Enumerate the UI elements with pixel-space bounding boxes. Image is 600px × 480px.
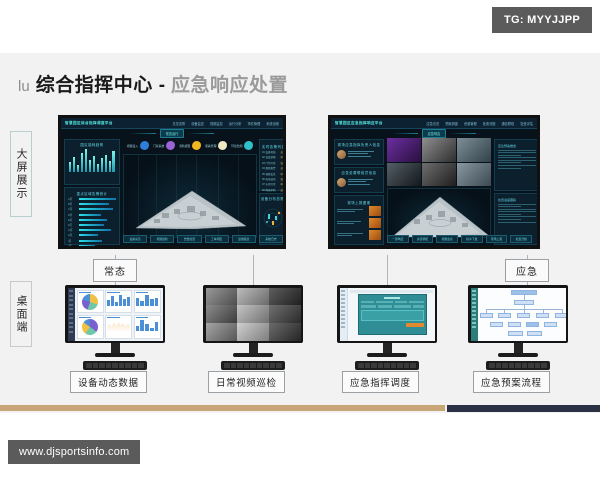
photo-item[interactable] bbox=[337, 206, 381, 216]
bi-content bbox=[75, 288, 163, 341]
submit-button[interactable] bbox=[406, 323, 424, 327]
video-feed[interactable] bbox=[387, 138, 421, 162]
status-badge: 应急响应 bbox=[422, 129, 447, 138]
toolbar-button[interactable]: 指令下发 bbox=[461, 235, 483, 243]
table-row: 03 门禁异常低 bbox=[262, 161, 283, 165]
quick-entry[interactable]: 消防报警 bbox=[179, 141, 201, 150]
panel-plan-push: 应急预案推送 bbox=[494, 139, 540, 191]
bi-row bbox=[77, 290, 161, 314]
cctv-feed bbox=[206, 288, 237, 305]
environment-icon bbox=[244, 141, 253, 150]
nav-item[interactable]: 复盘评估 bbox=[520, 121, 533, 126]
cctv-feed bbox=[237, 305, 268, 322]
panel-site-photos: 现场上报图像 bbox=[334, 195, 384, 245]
map-3d-view[interactable] bbox=[387, 188, 491, 238]
keyboard bbox=[355, 361, 419, 370]
video-icon bbox=[140, 141, 149, 150]
toolbar-button[interactable]: 现场上报 bbox=[486, 235, 508, 243]
quick-entry-label: 消防报警 bbox=[179, 144, 190, 148]
avatar bbox=[337, 150, 346, 159]
monitor-neck bbox=[514, 343, 523, 353]
video-feed[interactable] bbox=[422, 138, 456, 162]
hbar-item: B区 bbox=[68, 202, 116, 206]
toolbar-button[interactable]: 设备总览 bbox=[123, 235, 147, 243]
flow-node[interactable] bbox=[508, 331, 523, 336]
nav-item[interactable]: 通信联络 bbox=[502, 121, 515, 126]
monitor-base bbox=[498, 353, 538, 357]
quick-entry-label: 能耗管理 bbox=[205, 144, 216, 148]
cctv-grid[interactable] bbox=[206, 288, 301, 341]
flow-node[interactable] bbox=[527, 331, 542, 336]
keyboard bbox=[83, 361, 147, 370]
monitor-neck bbox=[249, 343, 258, 353]
slide-canvas: lu 综合指挥中心 - 应急响应处置 大屏展示 桌面端 智慧园区综合指挥调度平台… bbox=[0, 53, 600, 413]
monitor-emergency-dispatch[interactable] bbox=[337, 285, 437, 370]
monitor-video-patrol[interactable] bbox=[203, 285, 303, 370]
table-row: 01 设备离线高 bbox=[262, 150, 283, 154]
toolbar-button[interactable]: 资源调配 bbox=[412, 235, 434, 243]
person-card bbox=[335, 176, 383, 189]
side-tag-desktop: 桌面端 bbox=[10, 281, 32, 347]
line-chart bbox=[107, 319, 130, 332]
panel-title: 实时告警列表 bbox=[262, 142, 283, 150]
form-textarea[interactable] bbox=[361, 310, 424, 321]
status-badge: 常态运行 bbox=[160, 129, 185, 138]
hbar-item: C区 bbox=[68, 207, 116, 211]
panel-area-alarms: 重点区域告警统计 A区 B区 C区 D区 E区 F区 G区 H区 I区 J区 bbox=[64, 187, 120, 245]
dialog-title bbox=[384, 297, 399, 299]
flow-node[interactable] bbox=[480, 313, 493, 318]
quick-entry-label: 环境监测 bbox=[231, 144, 242, 148]
photo-item[interactable] bbox=[337, 218, 381, 228]
nav-item[interactable]: 预案调度 bbox=[445, 121, 458, 126]
photo-thumbnail bbox=[369, 230, 381, 240]
bigscreen-emergency[interactable]: 智慧园区应急指挥响应平台 应急总览 预案调度 资源管理 处置流程 通信联络 复盘… bbox=[328, 115, 540, 249]
pie-chart bbox=[82, 294, 98, 310]
monitor-frame bbox=[203, 285, 303, 343]
nav-item[interactable]: 应急总览 bbox=[427, 121, 440, 126]
decor-line-left bbox=[130, 133, 156, 134]
quick-entry[interactable]: 能耗管理 bbox=[205, 141, 227, 150]
cctv-feed bbox=[269, 288, 300, 305]
toolbar-button[interactable]: 视频巡检 bbox=[150, 235, 174, 243]
video-feed[interactable] bbox=[457, 163, 491, 187]
quick-entry[interactable]: 环境监测 bbox=[231, 141, 253, 150]
panel-alarm-list: 实时告警列表 01 设备离线高 02 温度超限中 03 门禁异常低 04 烟感报… bbox=[259, 139, 286, 191]
cctv-feed bbox=[269, 305, 300, 322]
monitor-neck bbox=[383, 343, 392, 353]
screen-bezel bbox=[331, 246, 537, 249]
monitor-base bbox=[367, 353, 407, 357]
panel-title: 设备分布态势 bbox=[260, 194, 285, 202]
panel-title: 现场上报图像 bbox=[337, 198, 381, 206]
form-field[interactable] bbox=[361, 301, 424, 304]
flow-node[interactable] bbox=[536, 313, 549, 318]
person-info bbox=[348, 179, 381, 187]
bi-card bbox=[134, 290, 161, 314]
panel-title: 园区能耗趋势 bbox=[65, 140, 119, 148]
energy-icon bbox=[218, 141, 227, 150]
photo-caption bbox=[337, 209, 367, 213]
app-toolbar[interactable] bbox=[350, 290, 433, 293]
decor-line-right bbox=[188, 133, 214, 134]
hbar-item: I区 bbox=[68, 239, 116, 243]
monitor-base bbox=[233, 353, 273, 357]
cctv-feed bbox=[237, 288, 268, 305]
monitor-emergency-plan-flow[interactable] bbox=[468, 285, 568, 370]
caption-emergency-dispatch: 应急指挥调度 bbox=[342, 371, 419, 393]
watermark-site-badge: www.djsportsinfo.com bbox=[8, 440, 140, 464]
monitor-screen[interactable] bbox=[340, 288, 435, 341]
flow-node[interactable] bbox=[490, 322, 503, 327]
dashboard-title: 智慧园区综合指挥调度平台 bbox=[65, 121, 113, 126]
hbar-item: F区 bbox=[68, 223, 116, 227]
nav-item[interactable]: 处置流程 bbox=[483, 121, 496, 126]
monitor-frame bbox=[65, 285, 165, 343]
bi-card bbox=[77, 315, 104, 339]
panel-title: 应急处置联络员信息 bbox=[335, 168, 383, 176]
panel-title: 重点区域告警统计 bbox=[68, 189, 116, 197]
dashboard-header: 智慧园区综合指挥调度平台 总览态势 设备监控 视频监控 运行分析 事件管理 系统… bbox=[61, 118, 283, 129]
monitor-screen[interactable] bbox=[206, 288, 301, 341]
connector-line bbox=[387, 255, 388, 287]
table-row: 07 水压异常中 bbox=[262, 182, 283, 186]
decor-line-left bbox=[392, 133, 418, 134]
campus-3d-model bbox=[132, 185, 250, 229]
bi-card bbox=[105, 290, 132, 314]
flow-node[interactable] bbox=[498, 313, 511, 318]
quick-entry-label: 视频接入 bbox=[127, 144, 138, 148]
fire-alarm-icon bbox=[192, 141, 201, 150]
dashboard-bottom-toolbar[interactable]: 一键响应 资源调配 视频会商 指令下发 现场上报 处置归档 bbox=[387, 235, 532, 243]
app-body bbox=[348, 288, 435, 341]
toolbar-button[interactable]: 工单调度 bbox=[205, 235, 229, 243]
keyboard bbox=[221, 361, 285, 370]
state-label-normal: 常态 bbox=[93, 259, 137, 282]
dashboard-normal: 智慧园区综合指挥调度平台 总览态势 设备监控 视频监控 运行分析 事件管理 系统… bbox=[61, 118, 283, 246]
caption-video-patrol: 日常视频巡检 bbox=[208, 371, 285, 393]
state-label-emergency: 应急 bbox=[505, 259, 549, 282]
nav-item[interactable]: 运行分析 bbox=[229, 121, 242, 126]
table-row: 04 烟感报警高 bbox=[262, 166, 283, 170]
dispatch-dialog[interactable] bbox=[358, 294, 427, 335]
person-info bbox=[348, 151, 381, 159]
toolbar-button[interactable]: 处置归档 bbox=[510, 235, 532, 243]
bi-card bbox=[77, 290, 104, 314]
side-tag-bigscreen: 大屏展示 bbox=[10, 131, 32, 217]
hbar-item: D区 bbox=[68, 213, 116, 217]
connector-line bbox=[253, 255, 254, 287]
dashboard-bottom-toolbar[interactable]: 设备总览 视频巡检 告警处置 工单调度 运维报表 系统日志 bbox=[123, 235, 283, 243]
monitor-base bbox=[95, 353, 135, 357]
app-sidebar[interactable] bbox=[340, 288, 348, 341]
flow-node[interactable] bbox=[526, 322, 539, 327]
bigscreen-normal[interactable]: 智慧园区综合指挥调度平台 总览态势 设备监控 视频监控 运行分析 事件管理 系统… bbox=[58, 115, 286, 249]
bar-chart bbox=[136, 294, 159, 306]
dashboard-status-bar: 常态运行 bbox=[61, 129, 283, 137]
person-card bbox=[335, 148, 383, 161]
hbar-item: A区 bbox=[68, 197, 116, 201]
flowchart-app bbox=[471, 288, 566, 341]
nav-item[interactable]: 总览态势 bbox=[173, 121, 186, 126]
toolbar-button[interactable]: 告警处置 bbox=[177, 235, 201, 243]
toolbar-button[interactable]: 视频会商 bbox=[436, 235, 458, 243]
bar-chart bbox=[107, 294, 130, 306]
dashboard-title: 智慧园区应急指挥响应平台 bbox=[335, 121, 383, 126]
hbar-item: G区 bbox=[68, 228, 116, 232]
toolbar-button[interactable]: 一键响应 bbox=[387, 235, 409, 243]
flow-node[interactable] bbox=[555, 313, 566, 318]
toolbar-button[interactable]: 系统日志 bbox=[259, 235, 283, 243]
table-row: 06 电压波动低 bbox=[262, 177, 283, 181]
video-feed[interactable] bbox=[457, 138, 491, 162]
quick-entry-icons[interactable]: 视频接入 门禁系统 消防报警 能耗管理 环境监测 bbox=[125, 138, 255, 153]
nav-item[interactable]: 视频监控 bbox=[210, 121, 223, 126]
nav-item[interactable]: 资源管理 bbox=[464, 121, 477, 126]
hbar-item: E区 bbox=[68, 218, 116, 222]
dashboard-header: 智慧园区应急指挥响应平台 应急总览 预案调度 资源管理 处置流程 通信联络 复盘… bbox=[331, 118, 537, 129]
nav-item[interactable]: 事件管理 bbox=[248, 121, 261, 126]
bi-card bbox=[105, 315, 132, 339]
photo-caption bbox=[337, 233, 367, 237]
bi-card bbox=[134, 315, 161, 339]
panel-energy-trend: 园区能耗趋势 bbox=[64, 139, 120, 185]
title-main: 综合指挥中心 bbox=[36, 70, 153, 97]
table-row: 05 视频丢失中 bbox=[262, 172, 283, 176]
screen-bezel bbox=[61, 246, 283, 249]
title-subtitle: 应急响应处置 bbox=[171, 70, 288, 97]
flowchart-canvas[interactable] bbox=[478, 288, 566, 341]
bi-sidebar[interactable] bbox=[68, 288, 75, 341]
monitor-frame bbox=[468, 285, 568, 343]
app-sidebar[interactable] bbox=[471, 288, 478, 341]
caption-device-data: 设备动态数据 bbox=[70, 371, 147, 393]
table-row: 02 温度超限中 bbox=[262, 155, 283, 159]
monitor-neck bbox=[111, 343, 120, 353]
dashboard-emergency: 智慧园区应急指挥响应平台 应急总览 预案调度 资源管理 处置流程 通信联络 复盘… bbox=[331, 118, 537, 246]
keyboard bbox=[486, 361, 550, 370]
panel-title: 处置进度跟踪 bbox=[498, 198, 536, 202]
bi-dashboard bbox=[68, 288, 163, 341]
title-separator: - bbox=[159, 75, 165, 97]
monitor-screen[interactable] bbox=[68, 288, 163, 341]
watermark-top-badge: TG: MYYJJPP bbox=[492, 7, 592, 33]
monitor-frame bbox=[337, 285, 437, 343]
access-control-icon bbox=[166, 141, 175, 150]
bar-chart bbox=[136, 319, 159, 331]
quick-entry-label: 门禁系统 bbox=[153, 144, 164, 148]
bar-chart bbox=[65, 148, 119, 174]
avatar bbox=[337, 178, 346, 187]
panel-title: 应急预案推送 bbox=[498, 144, 536, 148]
photo-caption bbox=[337, 221, 367, 225]
pie-chart bbox=[82, 319, 98, 335]
cctv-feed bbox=[237, 323, 268, 340]
panel-title: 现场应急指挥负责人信息 bbox=[335, 140, 383, 148]
cctv-feed bbox=[206, 323, 237, 340]
caption-emergency-plan: 应急预案流程 bbox=[473, 371, 550, 393]
cctv-feed bbox=[206, 305, 237, 322]
campus-3d-model bbox=[388, 189, 491, 238]
photo-item[interactable] bbox=[337, 230, 381, 240]
quick-entry[interactable]: 视频接入 bbox=[127, 141, 149, 150]
cctv-feed bbox=[269, 323, 300, 340]
map-3d-view[interactable] bbox=[123, 154, 257, 238]
dispatch-form-app bbox=[340, 288, 435, 341]
title-prefix: lu bbox=[18, 78, 30, 95]
monitor-device-data[interactable] bbox=[65, 285, 165, 370]
footer-bar-tan bbox=[0, 405, 445, 411]
page-title: lu 综合指挥中心 - 应急响应处置 bbox=[18, 70, 288, 97]
toolbar-button[interactable]: 运维报表 bbox=[232, 235, 256, 243]
dashboard-status-bar: 应急响应 bbox=[331, 129, 537, 137]
flow-node[interactable] bbox=[508, 322, 521, 327]
nav-item[interactable]: 系统设置 bbox=[266, 121, 279, 126]
monitor-screen[interactable] bbox=[471, 288, 566, 341]
photo-thumbnail bbox=[369, 206, 381, 216]
dashboard-nav[interactable]: 总览态势 设备监控 视频监控 运行分析 事件管理 系统设置 bbox=[173, 121, 280, 126]
video-feed[interactable] bbox=[387, 163, 421, 187]
footer-bar-navy bbox=[447, 405, 600, 412]
quick-entry[interactable]: 门禁系统 bbox=[153, 141, 175, 150]
form-field[interactable] bbox=[361, 305, 424, 308]
decor-line-right bbox=[450, 133, 476, 134]
dashboard-nav[interactable]: 应急总览 预案调度 资源管理 处置流程 通信联络 复盘评估 bbox=[427, 121, 534, 126]
panel-deputy: 应急处置联络员信息 bbox=[334, 167, 384, 193]
video-feed[interactable] bbox=[422, 163, 456, 187]
nav-item[interactable]: 设备监控 bbox=[191, 121, 204, 126]
hbar-item: H区 bbox=[68, 233, 116, 237]
table-row: 08 网络中断高 bbox=[262, 188, 283, 192]
panel-commander: 现场应急指挥负责人信息 bbox=[334, 139, 384, 165]
photo-thumbnail bbox=[369, 218, 381, 228]
flow-node[interactable] bbox=[544, 322, 557, 327]
video-wall[interactable] bbox=[387, 138, 491, 186]
flow-node[interactable] bbox=[517, 313, 530, 318]
bi-row bbox=[77, 315, 161, 339]
